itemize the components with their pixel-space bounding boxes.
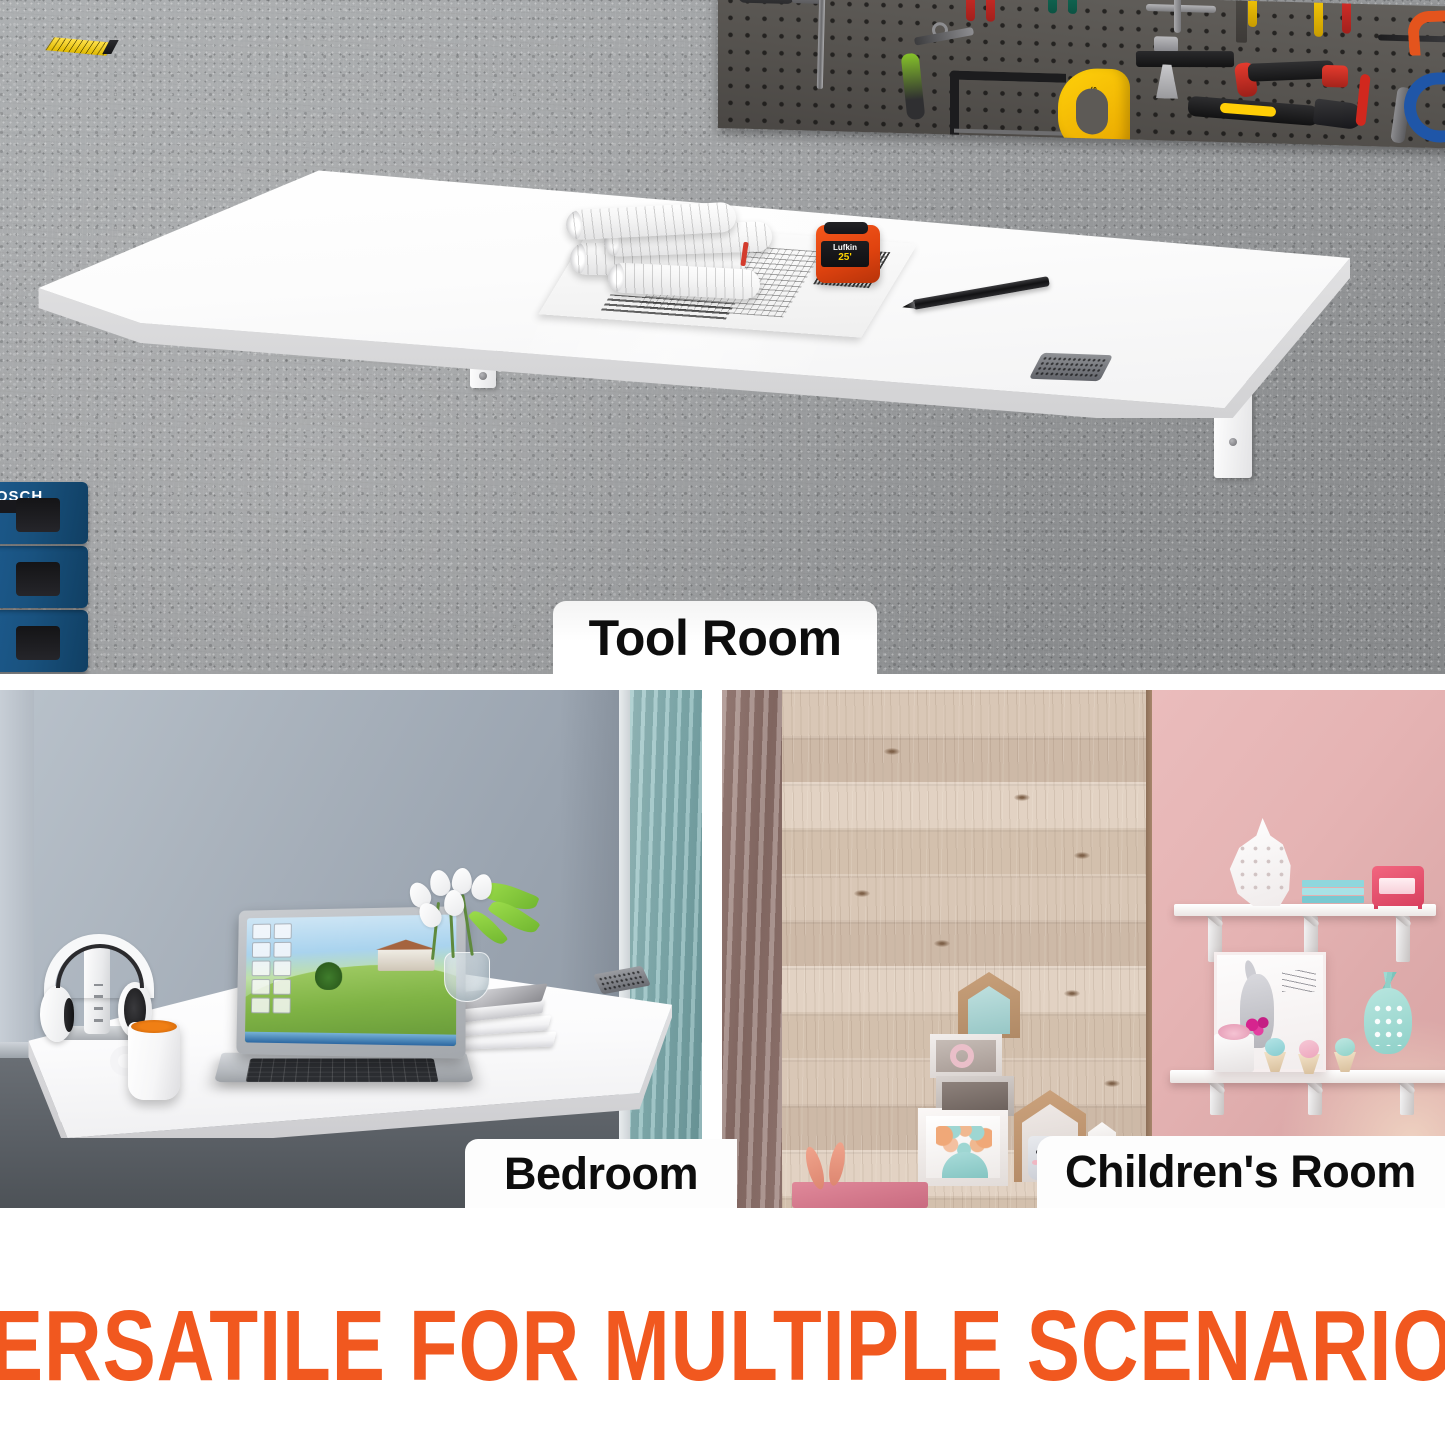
tape-brand-text: Lufkin bbox=[821, 243, 869, 252]
desktop-icons bbox=[249, 921, 294, 1027]
book bbox=[1302, 880, 1364, 887]
wood-knot bbox=[934, 940, 950, 947]
scene-label-children-room: Children's Room bbox=[1037, 1136, 1445, 1208]
tape-length-text: 25' bbox=[821, 252, 869, 264]
scene-panel-tool-room: STAYER bbox=[0, 0, 1445, 674]
tape-measure: Lufkin 25' bbox=[816, 225, 880, 283]
wood-knot bbox=[854, 890, 870, 897]
bracket-screw bbox=[1229, 438, 1237, 446]
desktop-icon bbox=[252, 942, 270, 958]
desktop-icon bbox=[273, 942, 292, 958]
wood-knot bbox=[884, 748, 900, 755]
ice-cream-scoop bbox=[1299, 1040, 1319, 1058]
desktop-icon bbox=[251, 979, 269, 995]
poster-handwriting bbox=[1282, 970, 1316, 992]
shelf-box-interior bbox=[942, 1082, 1008, 1110]
desktop-icon bbox=[272, 979, 291, 995]
scene-label-text: Bedroom bbox=[504, 1148, 698, 1200]
pineapple-light-bulbs bbox=[1372, 1002, 1404, 1046]
headphone-earpad bbox=[64, 998, 74, 1032]
tool-case-latch bbox=[0, 500, 60, 513]
saw-handle-grip-hole bbox=[1076, 88, 1108, 135]
toy-radio-face bbox=[1379, 878, 1415, 894]
pliers-red-grip bbox=[1322, 65, 1348, 88]
wood-knot bbox=[1104, 1080, 1120, 1087]
scene-label-bedroom: Bedroom bbox=[465, 1139, 737, 1208]
wood-knot bbox=[1064, 990, 1080, 997]
screwdriver-red-icon bbox=[1342, 0, 1351, 34]
screwdriver-green-icon bbox=[1048, 0, 1057, 13]
book bbox=[1302, 896, 1364, 903]
tape-measure-lock bbox=[824, 222, 868, 234]
tool-pegboard: STAYER bbox=[718, 0, 1445, 149]
ice-cream-scoop bbox=[1335, 1038, 1355, 1056]
ice-cream-scoop bbox=[1265, 1038, 1285, 1056]
wood-knot bbox=[1074, 852, 1090, 859]
tool-case bbox=[0, 610, 88, 672]
wrench-shaft bbox=[1174, 0, 1181, 33]
tool-case bbox=[0, 546, 88, 608]
stacked-books bbox=[1302, 880, 1364, 905]
screwdriver-green-icon bbox=[1068, 0, 1077, 14]
mug-interior bbox=[131, 1020, 177, 1033]
product-marketing-image: STAYER bbox=[0, 0, 1445, 1445]
desktop-icon bbox=[273, 923, 292, 939]
ice-cream-tub bbox=[1214, 1034, 1254, 1072]
tool-rail bbox=[1236, 0, 1247, 43]
desktop-icon bbox=[273, 960, 292, 976]
folding-bracket bbox=[1210, 1083, 1224, 1115]
tape-measure-label: Lufkin 25' bbox=[821, 241, 869, 267]
laptop-keyboard bbox=[246, 1059, 439, 1083]
scene-label-text: Tool Room bbox=[589, 609, 842, 667]
desktop-icon bbox=[252, 924, 270, 940]
pink-curtain bbox=[722, 690, 782, 1208]
cable-grommet bbox=[1029, 353, 1113, 381]
letter-o-decor bbox=[950, 1044, 974, 1068]
calla-lilies bbox=[404, 868, 564, 964]
bunny-ear bbox=[802, 1145, 828, 1191]
scene-label-tool-room: Tool Room bbox=[553, 601, 877, 674]
bosch-tool-cases: BOSCH bbox=[0, 482, 94, 674]
desktop-icon bbox=[252, 961, 270, 977]
desktop-icon bbox=[251, 998, 270, 1014]
headline-text: VERSATILE FOR MULTIPLE SCENARIOS bbox=[0, 1296, 1445, 1396]
folding-bracket bbox=[1308, 1083, 1322, 1115]
pry-bar-icon bbox=[1136, 51, 1234, 67]
book bbox=[1302, 888, 1364, 895]
scene-label-text: Children's Room bbox=[1065, 1146, 1416, 1198]
bunny-ear-toy bbox=[804, 1142, 856, 1194]
scene-panel-bedroom bbox=[0, 690, 702, 1208]
wallpaper-tree bbox=[315, 962, 342, 990]
headline-banner: VERSATILE FOR MULTIPLE SCENARIOS bbox=[145, 1286, 1301, 1406]
screwdriver-red-icon bbox=[966, 0, 975, 21]
desktop-icon bbox=[272, 998, 291, 1014]
tool-case: BOSCH bbox=[0, 482, 88, 544]
screwdriver-red-icon bbox=[986, 0, 995, 22]
folding-bracket bbox=[1396, 916, 1410, 962]
scene-panel-children-room bbox=[722, 690, 1445, 1208]
mug bbox=[128, 1022, 180, 1100]
folding-bracket bbox=[1400, 1083, 1414, 1115]
wood-knot bbox=[1014, 794, 1030, 801]
screwdriver-yellow-icon bbox=[1248, 0, 1257, 27]
unicorn-lamp-bulbs bbox=[1236, 842, 1288, 894]
screwdriver-yellow-icon bbox=[1314, 0, 1323, 37]
bunny-ear bbox=[826, 1141, 847, 1187]
desktop-taskbar bbox=[245, 1032, 456, 1046]
